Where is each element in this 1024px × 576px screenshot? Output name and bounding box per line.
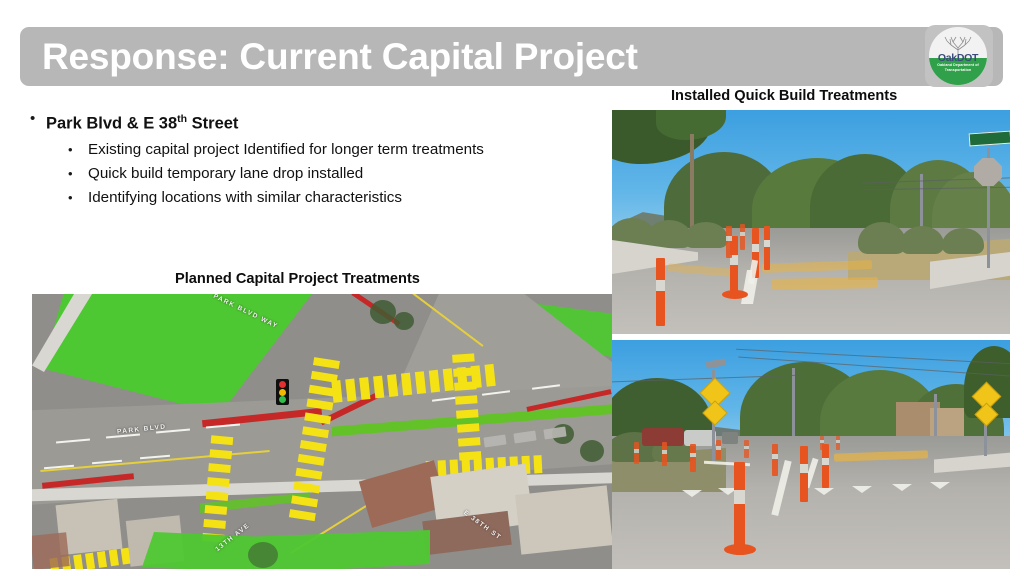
- oakdot-logo: OakDOT Oakland Department of Transportat…: [929, 27, 987, 85]
- bullet-glyph: •: [68, 186, 88, 209]
- delineator-post: [734, 462, 745, 550]
- traffic-signal-icon: [276, 379, 289, 405]
- delineator-post: [744, 440, 749, 458]
- quick-build-photo-top: [612, 110, 1010, 334]
- logo-subtitle: Oakland Department of Transportation: [929, 63, 987, 72]
- delineator-post: [726, 226, 732, 258]
- sub-bullet-2: • Quick build temporary lane drop instal…: [68, 162, 550, 185]
- chevron-arrow: [892, 484, 912, 491]
- utility-pole: [792, 368, 795, 440]
- chevron-arrow: [852, 486, 872, 493]
- sub-bullet-1-text: Existing capital project Identified for …: [88, 141, 484, 158]
- delineator-post: [820, 436, 824, 450]
- delineator-base: [722, 290, 748, 299]
- roof-sw: [32, 532, 70, 569]
- delineator-post: [690, 444, 696, 472]
- tree: [580, 440, 604, 462]
- photos-caption: Installed Quick Build Treatments: [671, 88, 897, 104]
- sub-bullet-3: • Identifying locations with similar cha…: [68, 186, 550, 209]
- aerial-plan-figure: PARK BLVD WAY PARK BLVD E 38TH ST 13TH A…: [32, 294, 612, 569]
- pavement-marking: [772, 277, 878, 290]
- delineator-post: [716, 440, 721, 460]
- chevron-arrow: [682, 490, 702, 497]
- main-bullet-text-after: Street: [187, 115, 238, 133]
- sub-bullet-1: • Existing capital project Identified fo…: [68, 138, 550, 161]
- bullet-glyph: •: [68, 138, 88, 161]
- delineator-base: [724, 544, 756, 555]
- delineator-post: [656, 258, 665, 326]
- quick-build-photo-bottom: [612, 340, 1010, 569]
- utility-pole: [934, 394, 937, 442]
- tree: [248, 542, 278, 568]
- sub-bullet-3-text: Identifying locations with similar chara…: [88, 189, 402, 206]
- main-bullet: • Park Blvd & E 38th Street: [30, 108, 550, 135]
- main-bullet-superscript: th: [177, 113, 187, 125]
- landscaping-sw: [142, 532, 262, 569]
- sub-bullet-list: • Existing capital project Identified fo…: [30, 138, 550, 209]
- delineator-post: [662, 442, 667, 466]
- delineator-post: [800, 446, 808, 502]
- delineator-post: [836, 436, 840, 450]
- building-se-2: [515, 485, 612, 554]
- tree: [394, 312, 414, 330]
- main-bullet-text: Park Blvd & E 38th Street: [46, 108, 238, 135]
- aerial-caption: Planned Capital Project Treatments: [175, 271, 420, 287]
- delineator-post: [764, 226, 770, 270]
- hedge: [684, 222, 728, 248]
- vehicle: [722, 432, 738, 444]
- bullet-list: • Park Blvd & E 38th Street • Existing c…: [30, 108, 550, 210]
- page-title: Response: Current Capital Project: [42, 30, 902, 84]
- bullet-glyph: •: [68, 162, 88, 185]
- chevron-arrow: [930, 482, 950, 489]
- tree: [370, 300, 396, 324]
- bullet-glyph: •: [30, 108, 46, 130]
- sub-bullet-2-text: Quick build temporary lane drop installe…: [88, 165, 363, 182]
- main-bullet-text-before: Park Blvd & E 38: [46, 115, 177, 133]
- delineator-post: [772, 444, 778, 476]
- bush: [942, 228, 984, 254]
- chevron-arrow: [814, 488, 834, 495]
- delineator-post: [822, 444, 829, 488]
- delineator-post: [634, 442, 639, 464]
- delineator-post: [740, 224, 745, 250]
- stop-sign: [974, 158, 1002, 186]
